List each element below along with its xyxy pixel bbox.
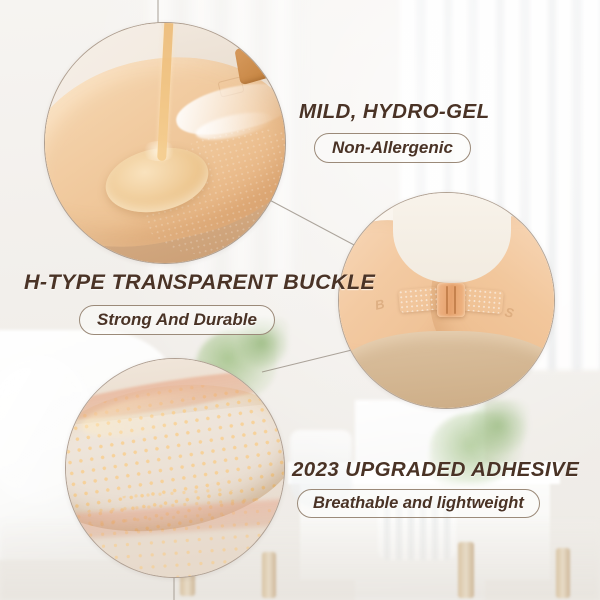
- feature-pill-gel: Non-Allergenic: [314, 133, 471, 163]
- feature-headline-gel: MILD, HYDRO-GEL: [299, 100, 490, 124]
- cup-underside-lower: [338, 331, 555, 409]
- adhesive-surface-photo: [65, 358, 285, 578]
- h-type-buckle-photo: B S: [338, 192, 555, 409]
- feature-pill-buckle: Strong And Durable: [79, 305, 275, 335]
- gel-pouring-on-cup-photo: [44, 22, 286, 264]
- h-type-buckle: [399, 279, 503, 321]
- infographic-canvas: B S MILD, HYDRO-GEL Non-Allergenic H-TYP…: [0, 0, 600, 600]
- feature-headline-adhesive: 2023 UPGRADED ADHESIVE: [292, 458, 579, 482]
- feature-pill-adhesive: Breathable and lightweight: [297, 489, 540, 518]
- buckle-clasp: [437, 283, 465, 317]
- feature-headline-buckle: H-TYPE TRANSPARENT BUCKLE: [24, 270, 375, 295]
